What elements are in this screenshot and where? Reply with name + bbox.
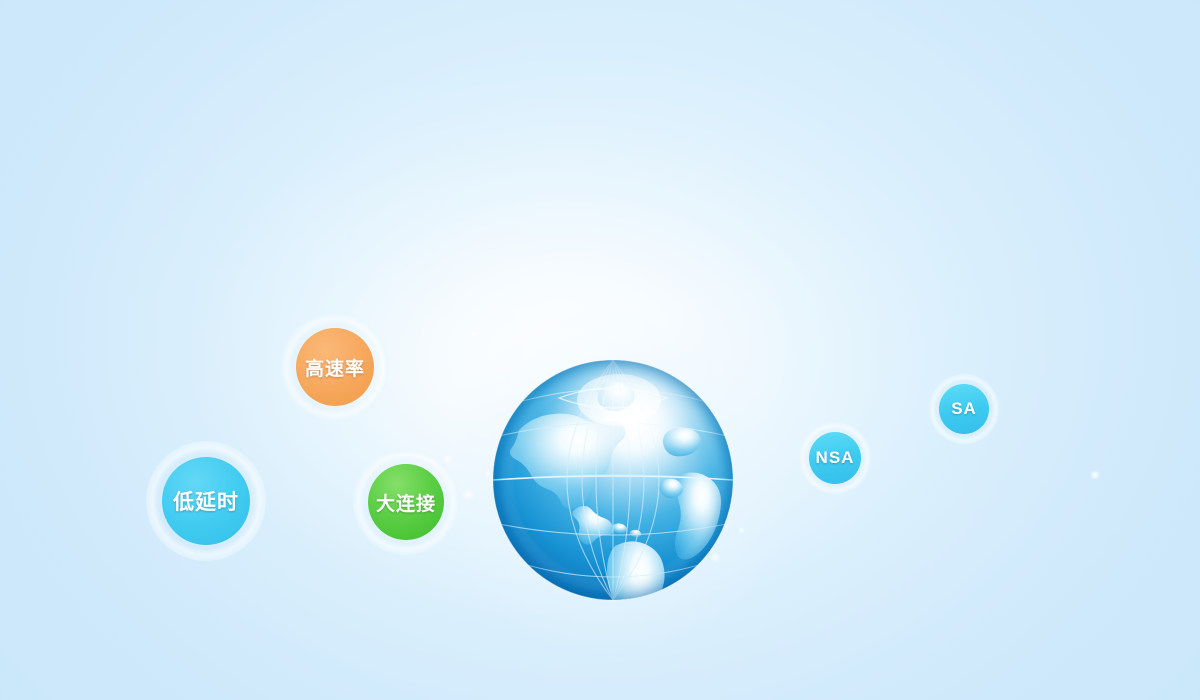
world-globe bbox=[491, 358, 735, 602]
bubble-sa-label: SA bbox=[951, 399, 977, 419]
bubble-nsa[interactable]: NSA bbox=[809, 432, 861, 484]
slide-canvas: 低延时 高速率 大连接 NSA SA China unicom 中国联通 bbox=[0, 0, 1200, 700]
carrier-logo-strip: China unicom 中国联通 bbox=[0, 608, 1200, 670]
bubble-big-connect[interactable]: 大连接 bbox=[368, 464, 444, 540]
bubble-sa[interactable]: SA bbox=[939, 384, 989, 434]
bubble-low-latency[interactable]: 低延时 bbox=[162, 457, 250, 545]
bubble-big-connect-label: 大连接 bbox=[376, 489, 436, 516]
bubble-low-latency-label: 低延时 bbox=[173, 486, 239, 516]
globe-graphic bbox=[491, 358, 735, 602]
bubble-nsa-label: NSA bbox=[816, 448, 855, 468]
bubble-high-speed-label: 高速率 bbox=[305, 354, 365, 381]
sparkle-icon bbox=[470, 330, 478, 338]
bubble-high-speed[interactable]: 高速率 bbox=[296, 328, 374, 406]
sparkle-icon bbox=[1090, 470, 1100, 480]
